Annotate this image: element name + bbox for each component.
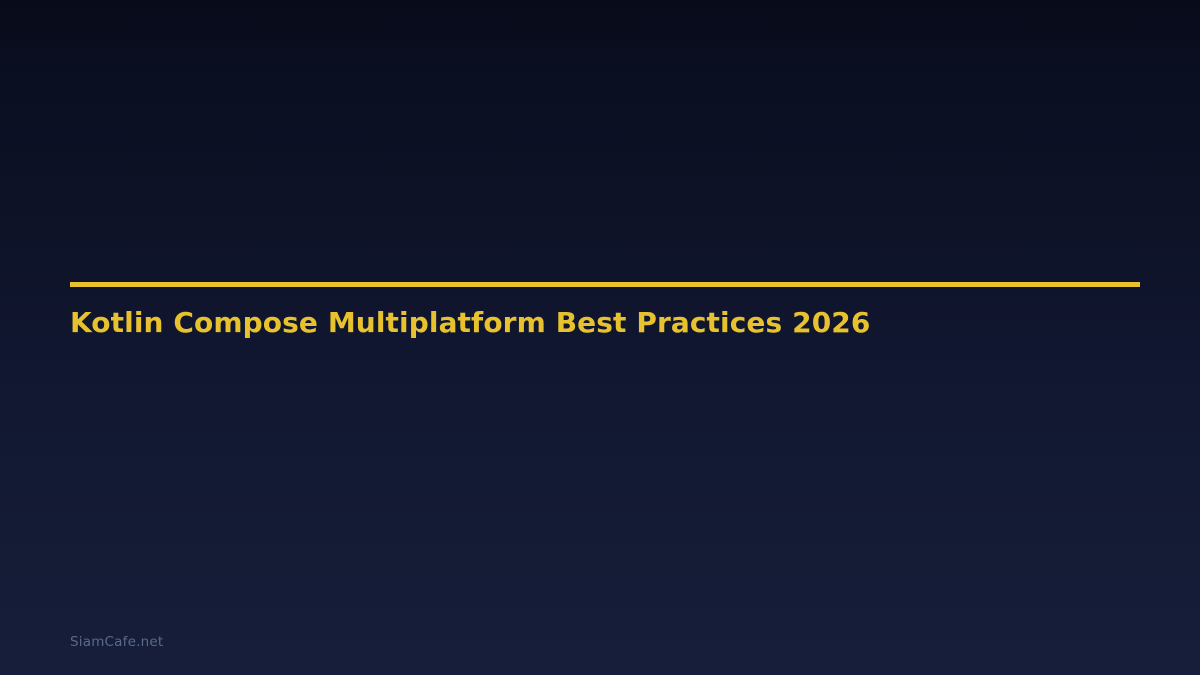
top-edge-band — [0, 0, 1200, 50]
footer-brand-label: SiamCafe.net — [70, 634, 163, 650]
title-block: Kotlin Compose Multiplatform Best Practi… — [70, 282, 1140, 340]
presentation-slide: Kotlin Compose Multiplatform Best Practi… — [0, 0, 1200, 675]
page-title: Kotlin Compose Multiplatform Best Practi… — [70, 306, 1140, 340]
title-accent-bar — [70, 282, 1140, 287]
slide-footer: SiamCafe.net — [70, 631, 163, 652]
